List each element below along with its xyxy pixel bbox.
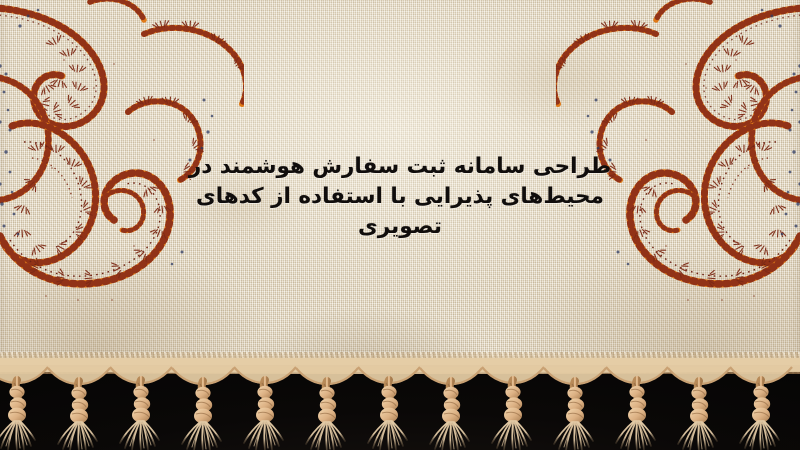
title-line-3: تصویری: [170, 212, 630, 242]
title-slide: طراحی سامانه ثبت سفارش هوشمند در محیط‌ها…: [0, 0, 800, 450]
title-line-1: طراحی سامانه ثبت سفارش هوشمند در: [170, 152, 630, 182]
slide-title: طراحی سامانه ثبت سفارش هوشمند در محیط‌ها…: [170, 152, 630, 242]
title-line-2: محیط‌های پذیرایی با استفاده از کدهای: [170, 182, 630, 212]
knotted-tassel-fringe: [0, 358, 800, 450]
